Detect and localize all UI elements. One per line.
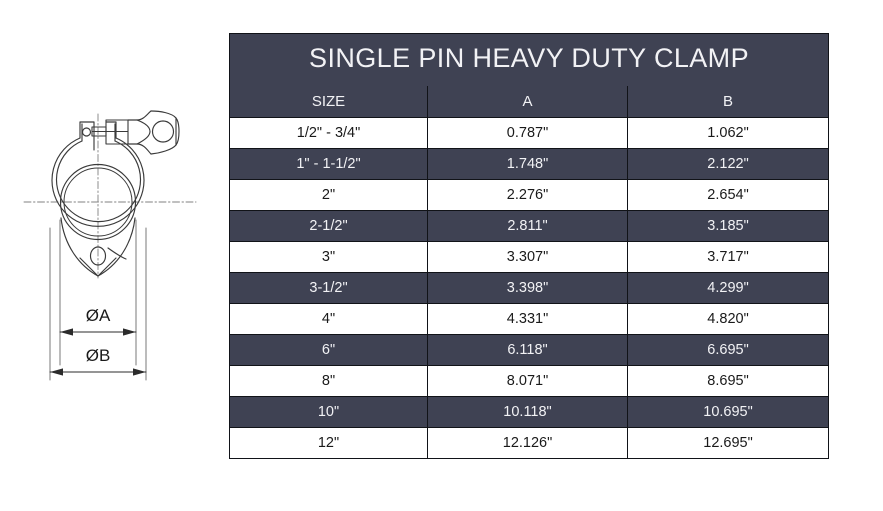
cell-size: 2-1/2" <box>230 211 428 242</box>
spec-table-container: SINGLE PIN HEAVY DUTY CLAMP SIZE A B 1/2… <box>229 33 828 459</box>
cell-size: 12" <box>230 428 428 459</box>
cell-a: 6.118" <box>428 335 628 366</box>
table-header-row: SIZE A B <box>230 86 829 118</box>
cell-a: 10.118" <box>428 397 628 428</box>
cell-b: 2.654" <box>628 180 829 211</box>
table-row: 1" - 1-1/2"1.748"2.122" <box>230 149 829 180</box>
cell-size: 10" <box>230 397 428 428</box>
column-header-b: B <box>628 86 829 118</box>
table-row: 3"3.307"3.717" <box>230 242 829 273</box>
cell-b: 8.695" <box>628 366 829 397</box>
cell-b: 3.717" <box>628 242 829 273</box>
cell-size: 2" <box>230 180 428 211</box>
clamp-pin-bolt <box>92 120 128 144</box>
cell-size: 3-1/2" <box>230 273 428 304</box>
cell-b: 3.185" <box>628 211 829 242</box>
table-title-row: SINGLE PIN HEAVY DUTY CLAMP <box>230 34 829 87</box>
clamp-technical-drawing: ØA ØB <box>20 110 220 400</box>
cell-a: 4.331" <box>428 304 628 335</box>
clamp-drawing-svg: ØA ØB <box>20 110 220 400</box>
dimension-line-inner-diameter <box>60 328 136 335</box>
table-row: 3-1/2"3.398"4.299" <box>230 273 829 304</box>
cell-a: 3.307" <box>428 242 628 273</box>
column-header-size: SIZE <box>230 86 428 118</box>
table-row: 1/2" - 3/4"0.787"1.062" <box>230 118 829 149</box>
cell-b: 4.820" <box>628 304 829 335</box>
table-title: SINGLE PIN HEAVY DUTY CLAMP <box>230 34 829 87</box>
cell-size: 3" <box>230 242 428 273</box>
clamp-dimension-table: SINGLE PIN HEAVY DUTY CLAMP SIZE A B 1/2… <box>229 33 829 459</box>
cell-b: 10.695" <box>628 397 829 428</box>
cell-b: 4.299" <box>628 273 829 304</box>
table-row: 6"6.118"6.695" <box>230 335 829 366</box>
cell-b: 1.062" <box>628 118 829 149</box>
cell-a: 0.787" <box>428 118 628 149</box>
cell-a: 12.126" <box>428 428 628 459</box>
cell-b: 12.695" <box>628 428 829 459</box>
table-row: 2"2.276"2.654" <box>230 180 829 211</box>
cell-a: 1.748" <box>428 149 628 180</box>
table-row: 2-1/2"2.811"3.185" <box>230 211 829 242</box>
table-row: 10"10.118"10.695" <box>230 397 829 428</box>
cell-size: 1/2" - 3/4" <box>230 118 428 149</box>
cell-a: 8.071" <box>428 366 628 397</box>
clamp-band-outer2 <box>57 141 141 222</box>
cell-a: 3.398" <box>428 273 628 304</box>
cell-size: 8" <box>230 366 428 397</box>
column-header-a: A <box>428 86 628 118</box>
table-row: 12"12.126"12.695" <box>230 428 829 459</box>
cell-b: 2.122" <box>628 149 829 180</box>
cell-size: 6" <box>230 335 428 366</box>
table-body: 1/2" - 3/4"0.787"1.062"1" - 1-1/2"1.748"… <box>230 118 829 459</box>
dimension-line-outer-diameter <box>50 368 146 375</box>
table-row: 4"4.331"4.820" <box>230 304 829 335</box>
cell-size: 1" - 1-1/2" <box>230 149 428 180</box>
wing-nut <box>128 111 179 154</box>
cell-size: 4" <box>230 304 428 335</box>
dimension-label-inner: ØA <box>86 306 111 325</box>
cell-a: 2.811" <box>428 211 628 242</box>
table-row: 8"8.071"8.695" <box>230 366 829 397</box>
cell-a: 2.276" <box>428 180 628 211</box>
cell-b: 6.695" <box>628 335 829 366</box>
dimension-label-outer: ØB <box>86 346 111 365</box>
